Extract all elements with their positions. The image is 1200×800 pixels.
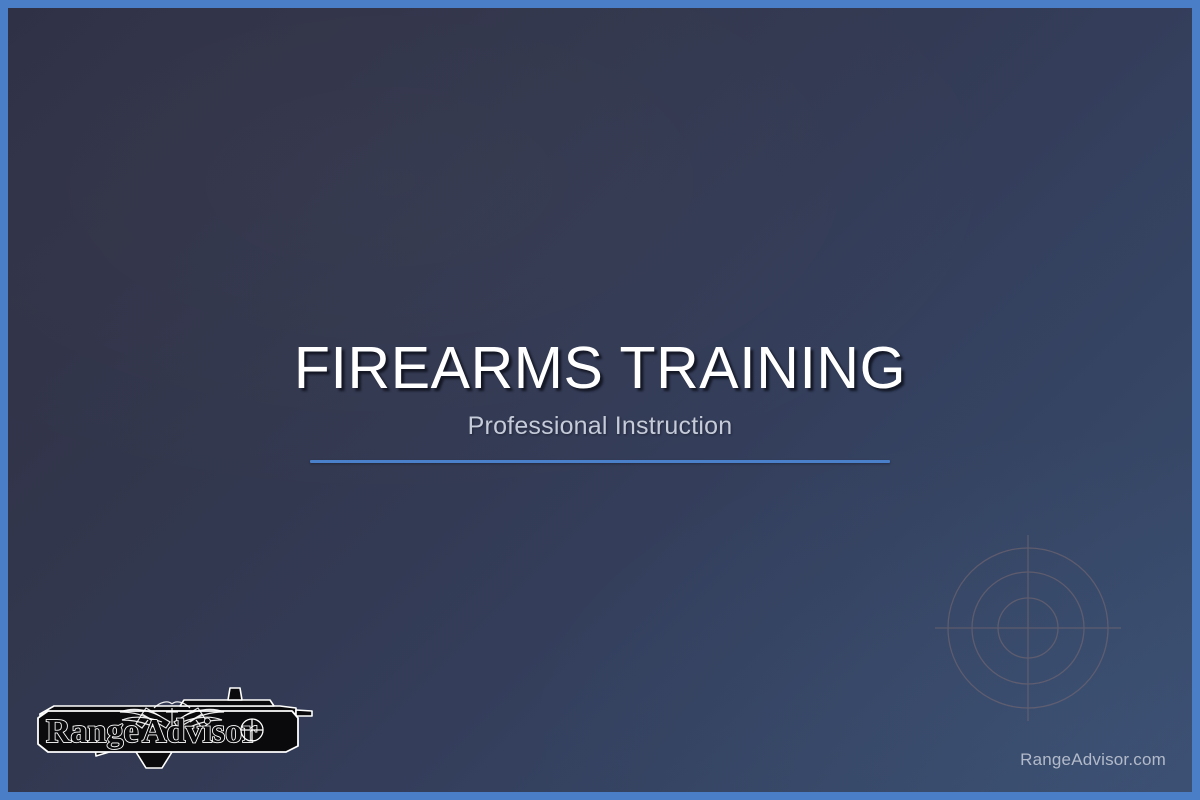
- logo-scope-reticle-icon: [241, 719, 263, 741]
- brand-logo: Range Advisor: [34, 678, 314, 773]
- page-subtitle: Professional Instruction: [8, 412, 1192, 441]
- presentation-slide: FIREARMS TRAINING Professional Instructi…: [0, 0, 1200, 800]
- site-url-footer: RangeAdvisor.com: [1020, 750, 1166, 770]
- accent-rule-divider: [310, 460, 890, 463]
- title-block: FIREARMS TRAINING Professional Instructi…: [8, 338, 1192, 463]
- crosshair-target-icon: [935, 535, 1121, 721]
- brand-wordmark: Range Advisor: [46, 713, 257, 750]
- brand-wordmark-range: Range: [46, 713, 139, 750]
- page-title: FIREARMS TRAINING: [8, 338, 1192, 398]
- brand-wordmark-advisor: Advisor: [142, 713, 257, 750]
